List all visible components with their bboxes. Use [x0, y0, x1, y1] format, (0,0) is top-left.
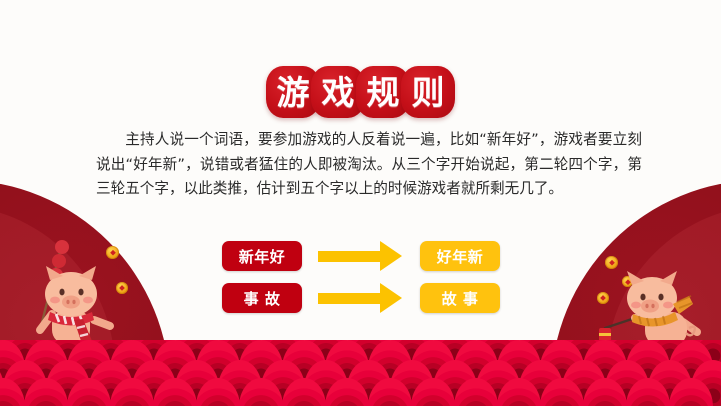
arrow-shaft [318, 251, 380, 262]
arrow-shaft [318, 293, 380, 304]
rules-paragraph: 主持人说一个词语，要参加游戏的人反着说一遍，比如“新年好”，游戏者要立刻说出“好… [96, 128, 642, 202]
example-source-1: 新年好 [222, 241, 302, 271]
example-row-2: 事 故 故 事 [222, 282, 512, 314]
arrow-head [380, 241, 402, 271]
title-char-1: 游 [277, 76, 310, 109]
title-char-4: 则 [412, 76, 445, 109]
example-row-1: 新年好 好年新 [222, 240, 512, 272]
slide-title: 游 戏 规 则 [0, 64, 721, 120]
scallop-row [0, 378, 721, 406]
title-char-3: 规 [367, 76, 400, 109]
slide-canvas: 游 戏 规 则 主持人说一个词语，要参加游戏的人反着说一遍，比如“新年好”，游戏… [0, 0, 721, 406]
example-result-1: 好年新 [420, 241, 500, 271]
title-badge-group: 游 戏 规 则 [266, 66, 455, 118]
examples-diagram: 新年好 好年新 事 故 故 事 [222, 240, 512, 324]
title-badge-4: 则 [401, 66, 455, 118]
arrow-head [380, 283, 402, 313]
title-char-2: 戏 [322, 76, 355, 109]
arrow-right-icon-2 [318, 282, 404, 314]
example-source-2: 事 故 [222, 283, 302, 313]
scallop-pattern [0, 340, 721, 406]
example-result-2: 故 事 [420, 283, 500, 313]
arrow-right-icon-1 [318, 240, 404, 272]
